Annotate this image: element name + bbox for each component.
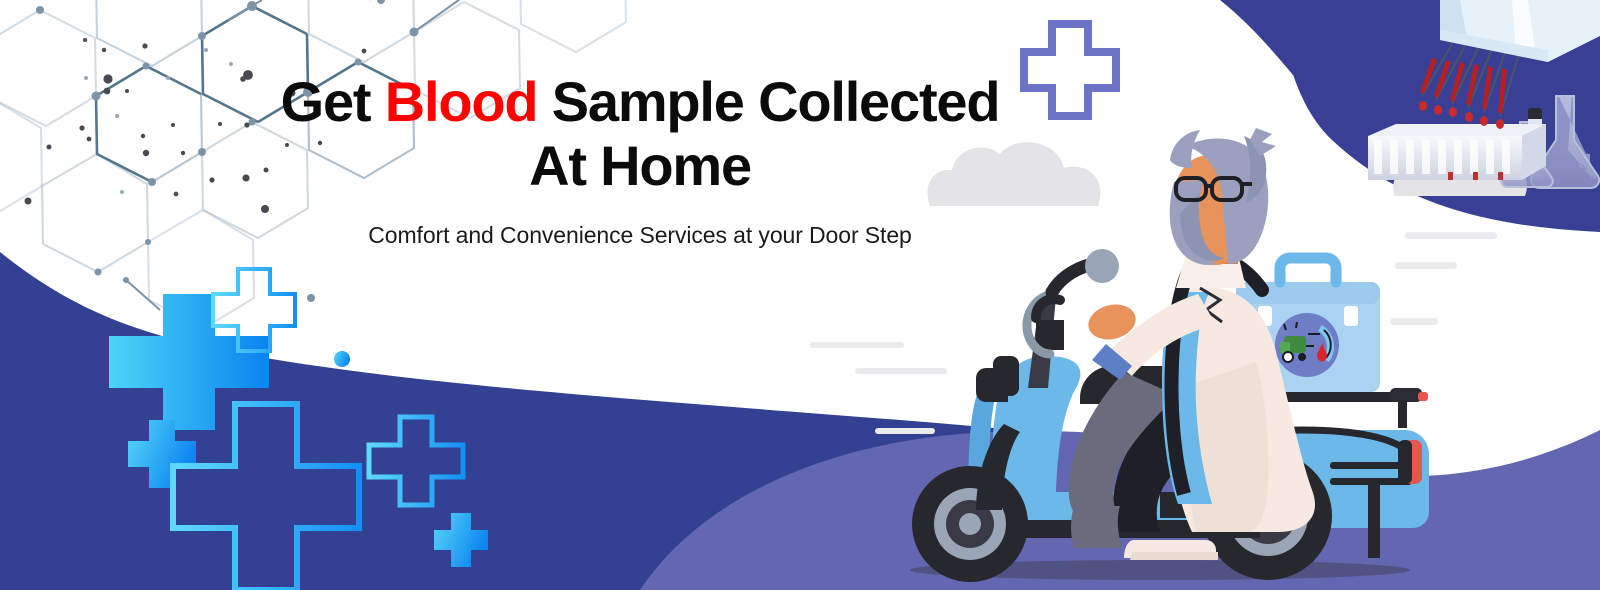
scooter-rider-illustration — [0, 0, 1600, 590]
rider-head — [1170, 128, 1276, 265]
mirror-icon — [1085, 249, 1119, 283]
scooter-front-wheel — [912, 466, 1028, 582]
case-badge-icon — [1275, 313, 1339, 377]
case-handle — [1280, 258, 1336, 282]
hero-banner: Get Blood Sample Collected At Home Comfo… — [0, 0, 1600, 590]
